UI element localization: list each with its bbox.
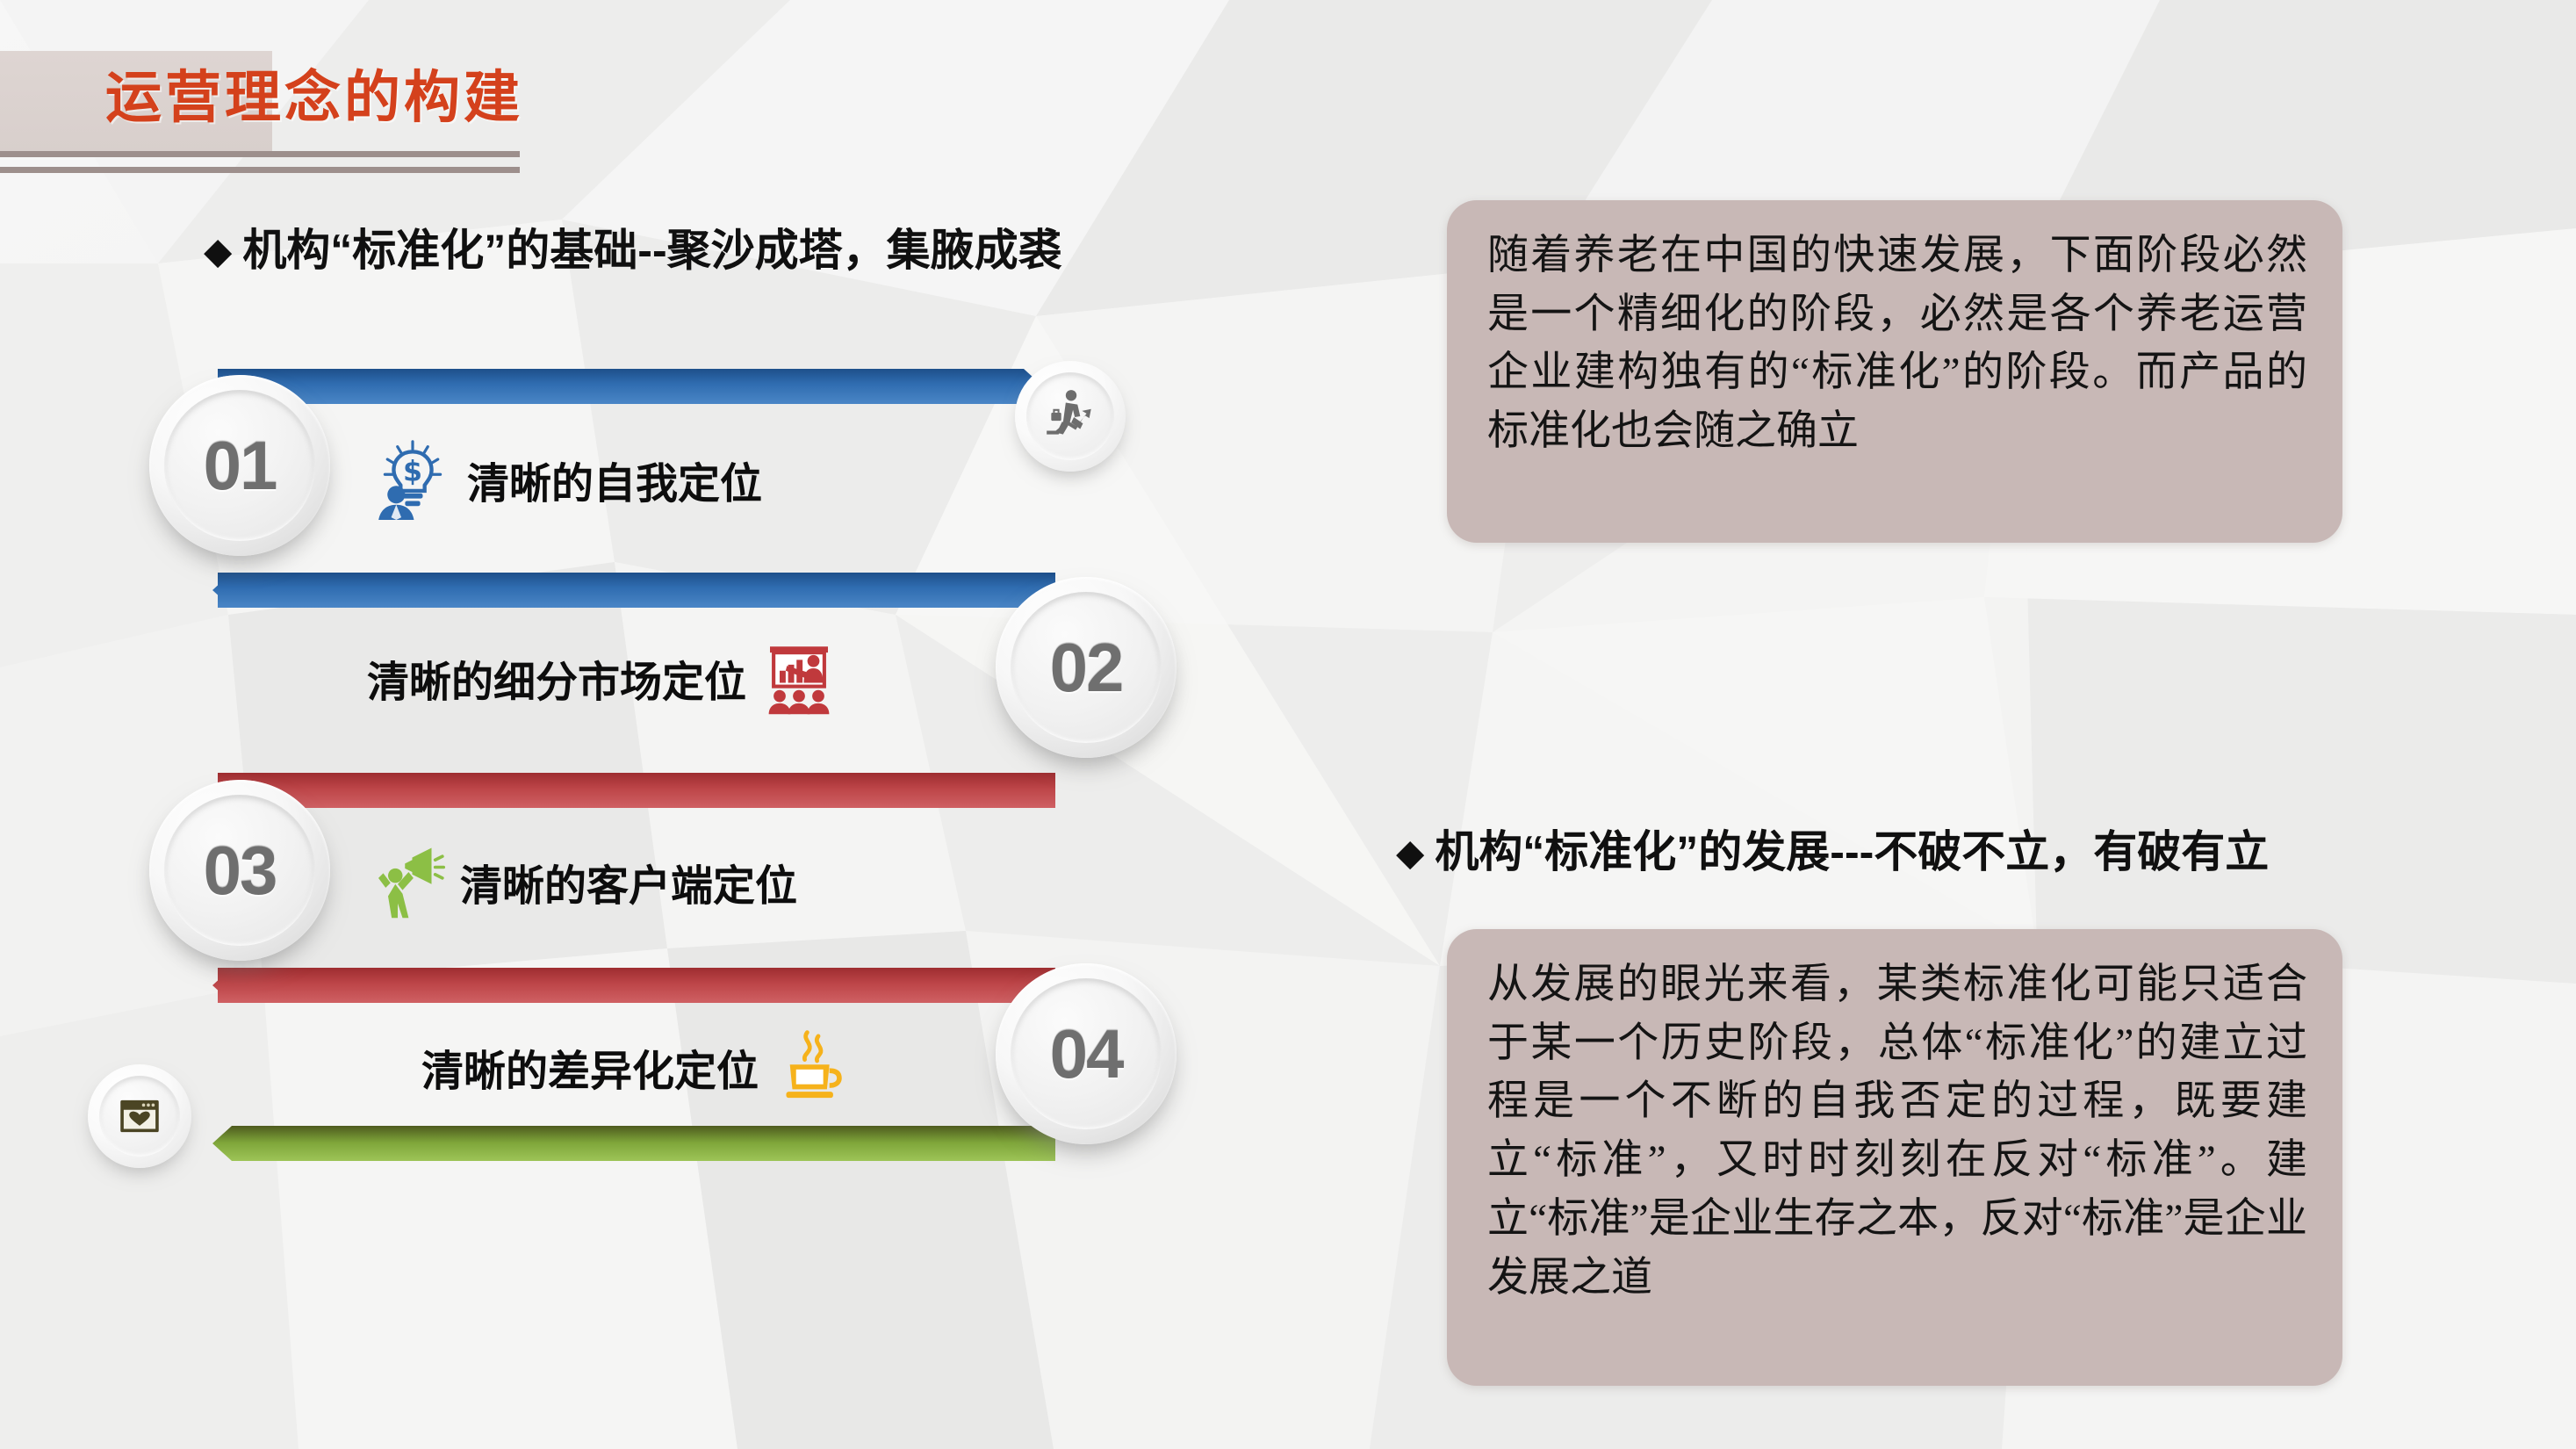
step-bar-02-top <box>212 573 1055 608</box>
browser-window-heart-icon <box>114 1091 165 1142</box>
bullet-heading-2: ◆机构“标准化”的发展---不破不立，有破有立 <box>1396 817 2269 880</box>
megaphone-person-icon <box>369 843 446 920</box>
four-step-diagram: 01 <box>0 334 1282 1300</box>
title-rule-lower <box>0 167 520 173</box>
coffee-cup-icon <box>773 1027 852 1107</box>
step-number-02: 02 <box>1050 628 1123 708</box>
note-box-1: 随着养老在中国的快速发展，下面阶段必然是一个精细化的阶段，必然是各个养老运营企业… <box>1447 200 2342 543</box>
accent-disc-running-businessman <box>1015 361 1126 472</box>
note-box-2: 从发展的眼光来看，某类标准化可能只适合于某一个历史阶段，总体“标准化”的建立过程… <box>1447 929 2342 1386</box>
lightbulb-dollar-businessman-icon: $ <box>372 439 453 520</box>
presentation-chart-audience-icon <box>760 639 838 717</box>
diamond-bullet-icon: ◆ <box>204 230 232 271</box>
title-rule-upper <box>0 151 520 157</box>
step-bar-04-top <box>212 968 1055 1003</box>
step-label-02-text: 清晰的细分市场定位 <box>367 647 746 709</box>
svg-text:$: $ <box>403 456 422 487</box>
step-bar-01-top <box>218 369 1043 404</box>
step-label-03: 清晰的客户端定位 <box>369 843 797 920</box>
step-label-03-text: 清晰的客户端定位 <box>460 851 797 912</box>
step-bar-03-top <box>218 773 1043 808</box>
step-bar-04-bottom <box>212 1126 1055 1161</box>
step-disc-04: 04 <box>996 963 1176 1144</box>
step-label-04: 清晰的差异化定位 <box>421 1027 852 1107</box>
bullet-heading-1-text: 机构“标准化”的基础--聚沙成塔，集腋成裘 <box>242 226 1061 275</box>
step-number-03: 03 <box>204 831 277 911</box>
bullet-heading-1: ◆机构“标准化”的基础--聚沙成塔，集腋成裘 <box>204 215 1062 278</box>
diamond-bullet-icon: ◆ <box>1396 832 1424 873</box>
step-label-02: 清晰的细分市场定位 <box>367 639 838 717</box>
slide-canvas: 运营理念的构建 ◆机构“标准化”的基础--聚沙成塔，集腋成裘 ◆机构“标准化”的… <box>0 0 2576 1449</box>
step-number-01: 01 <box>204 426 277 506</box>
step-disc-02: 02 <box>996 577 1176 758</box>
accent-disc-browser-heart <box>88 1064 191 1168</box>
step-label-04-text: 清晰的差异化定位 <box>421 1036 759 1098</box>
step-disc-03: 03 <box>149 780 330 961</box>
bullet-heading-2-text: 机构“标准化”的发展---不破不立，有破有立 <box>1435 827 2269 876</box>
step-label-01-text: 清晰的自我定位 <box>467 449 762 510</box>
step-label-01: $ 清晰的自我定位 <box>372 439 762 520</box>
running-businessman-arrow-icon <box>1041 387 1099 445</box>
step-number-04: 04 <box>1050 1014 1123 1094</box>
step-disc-01: 01 <box>149 375 330 556</box>
page-title: 运营理念的构建 <box>105 53 523 133</box>
